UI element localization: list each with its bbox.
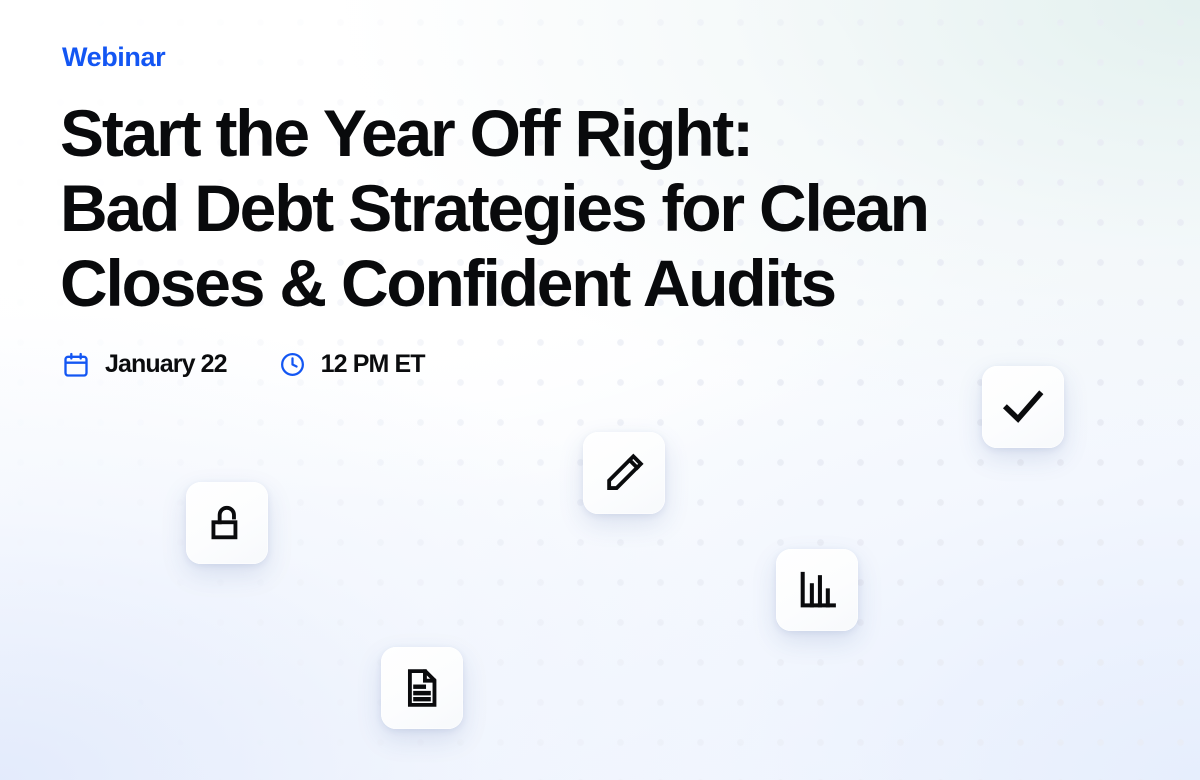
calendar-icon [62,351,90,379]
unlock-icon [205,501,249,545]
check-icon [1000,384,1046,430]
event-meta-row: January 22 12 PM ET [62,350,425,379]
clock-icon [279,351,306,378]
document-icon [400,666,444,710]
bar-chart-icon [795,568,839,612]
page-title: Start the Year Off Right: Bad Debt Strat… [60,96,1120,321]
webinar-promo-banner: Webinar Start the Year Off Right: Bad De… [0,0,1200,780]
node-bar-chart [776,549,858,631]
pencil-icon [602,451,646,495]
node-pencil [583,432,665,514]
node-unlock [186,482,268,564]
event-time: 12 PM ET [279,350,425,379]
eyebrow-label: Webinar [62,44,165,71]
node-check [982,366,1064,448]
node-document [381,647,463,729]
event-date-label: January 22 [105,350,227,379]
event-date: January 22 [62,350,227,379]
event-time-label: 12 PM ET [321,350,425,379]
